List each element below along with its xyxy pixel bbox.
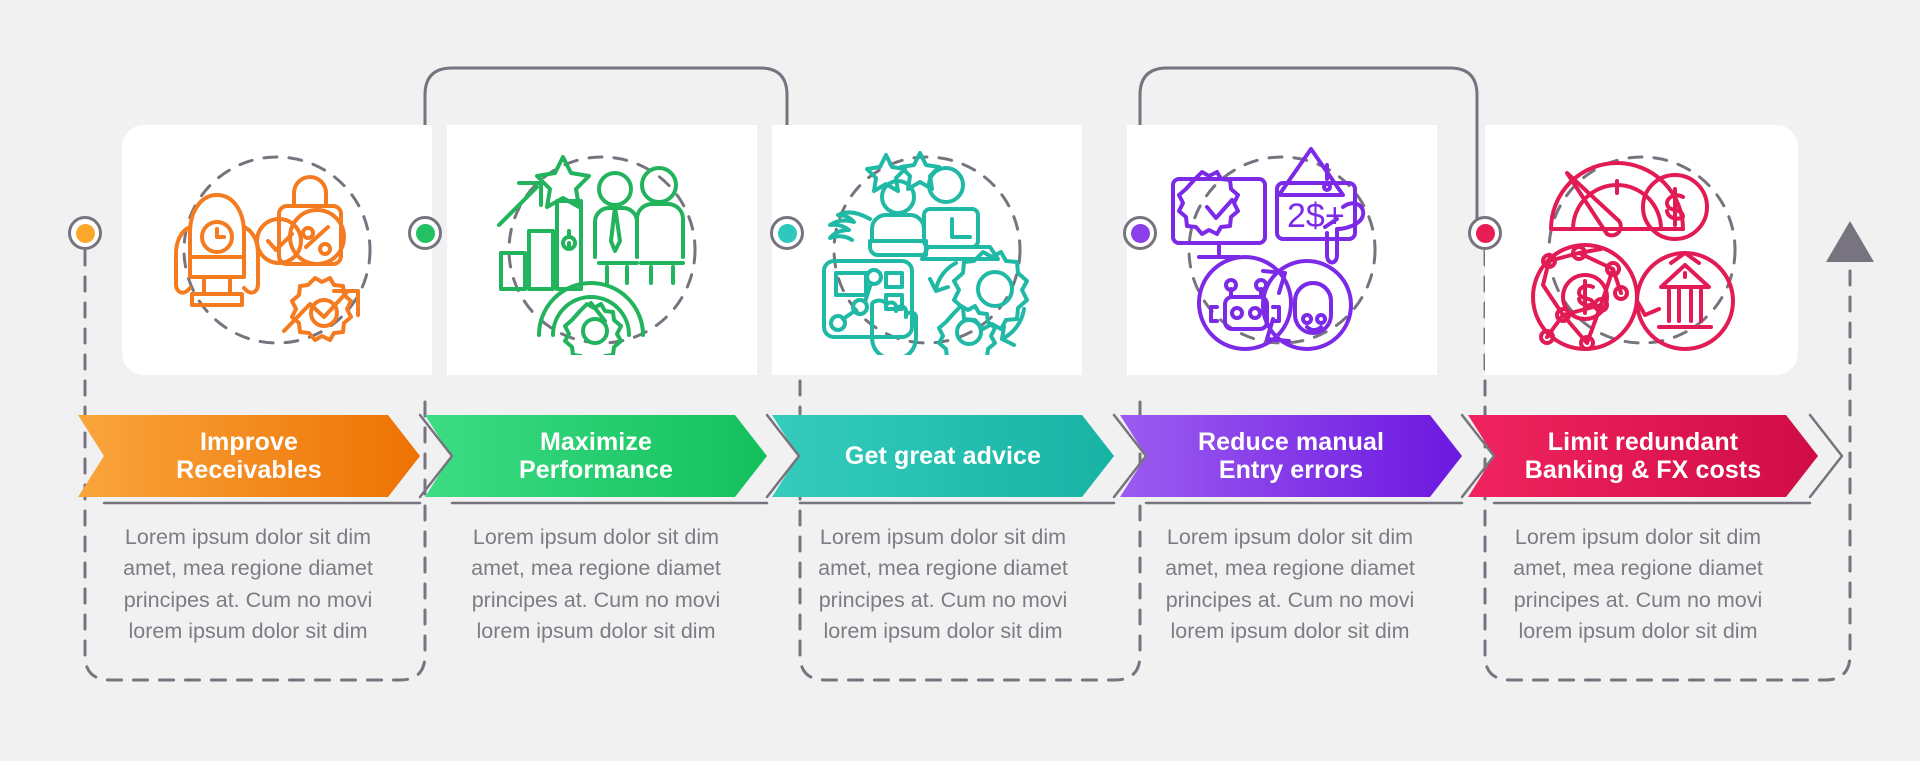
icon-card-2 bbox=[447, 125, 757, 375]
step-banner-2[interactable]: Maximize Performance bbox=[425, 415, 767, 497]
icon-card-1 bbox=[122, 125, 432, 375]
step-marker-2[interactable] bbox=[408, 216, 442, 250]
icon-group-4: 2$+ bbox=[1167, 145, 1397, 355]
icon-group-5 bbox=[1527, 145, 1757, 355]
marker-dot-2 bbox=[416, 224, 435, 243]
icon-card-3 bbox=[772, 125, 1082, 375]
step-title-4: Reduce manual Entry errors bbox=[1180, 428, 1402, 484]
step-title-2: Maximize Performance bbox=[501, 428, 691, 484]
step-title-3: Get great advice bbox=[827, 442, 1059, 470]
icon-card-4: 2$+ bbox=[1127, 125, 1437, 375]
icon-group-1 bbox=[162, 145, 392, 355]
step-description-4: Lorem ipsum dolor sit dim amet, mea regi… bbox=[1140, 522, 1440, 648]
step-description-3: Lorem ipsum dolor sit dim amet, mea regi… bbox=[793, 522, 1093, 648]
icon-group-3 bbox=[812, 145, 1042, 355]
step-banner-1[interactable]: Improve Receivables bbox=[78, 415, 420, 497]
marker-dot-3 bbox=[778, 224, 797, 243]
step-marker-3[interactable] bbox=[770, 216, 804, 250]
step-description-2: Lorem ipsum dolor sit dim amet, mea regi… bbox=[446, 522, 746, 648]
marker-dot-1 bbox=[76, 224, 95, 243]
up-arrow-marker bbox=[1826, 221, 1874, 262]
step-banner-5[interactable]: Limit redundant Banking & FX costs bbox=[1468, 415, 1818, 497]
step-title-5: Limit redundant Banking & FX costs bbox=[1507, 428, 1780, 484]
marker-dot-5 bbox=[1476, 224, 1495, 243]
icon-card-5 bbox=[1485, 125, 1798, 375]
step-description-1: Lorem ipsum dolor sit dim amet, mea regi… bbox=[98, 522, 398, 648]
marker-dot-4 bbox=[1131, 224, 1150, 243]
step-marker-5[interactable] bbox=[1468, 216, 1502, 250]
step-marker-4[interactable] bbox=[1123, 216, 1157, 250]
icon-group-2 bbox=[487, 145, 717, 355]
step-description-5: Lorem ipsum dolor sit dim amet, mea regi… bbox=[1488, 522, 1788, 648]
step-banner-3[interactable]: Get great advice bbox=[772, 415, 1114, 497]
step-banner-4[interactable]: Reduce manual Entry errors bbox=[1120, 415, 1462, 497]
infographic-canvas: 2$+ bbox=[0, 0, 1920, 761]
step-marker-1[interactable] bbox=[68, 216, 102, 250]
step-title-1: Improve Receivables bbox=[158, 428, 340, 484]
